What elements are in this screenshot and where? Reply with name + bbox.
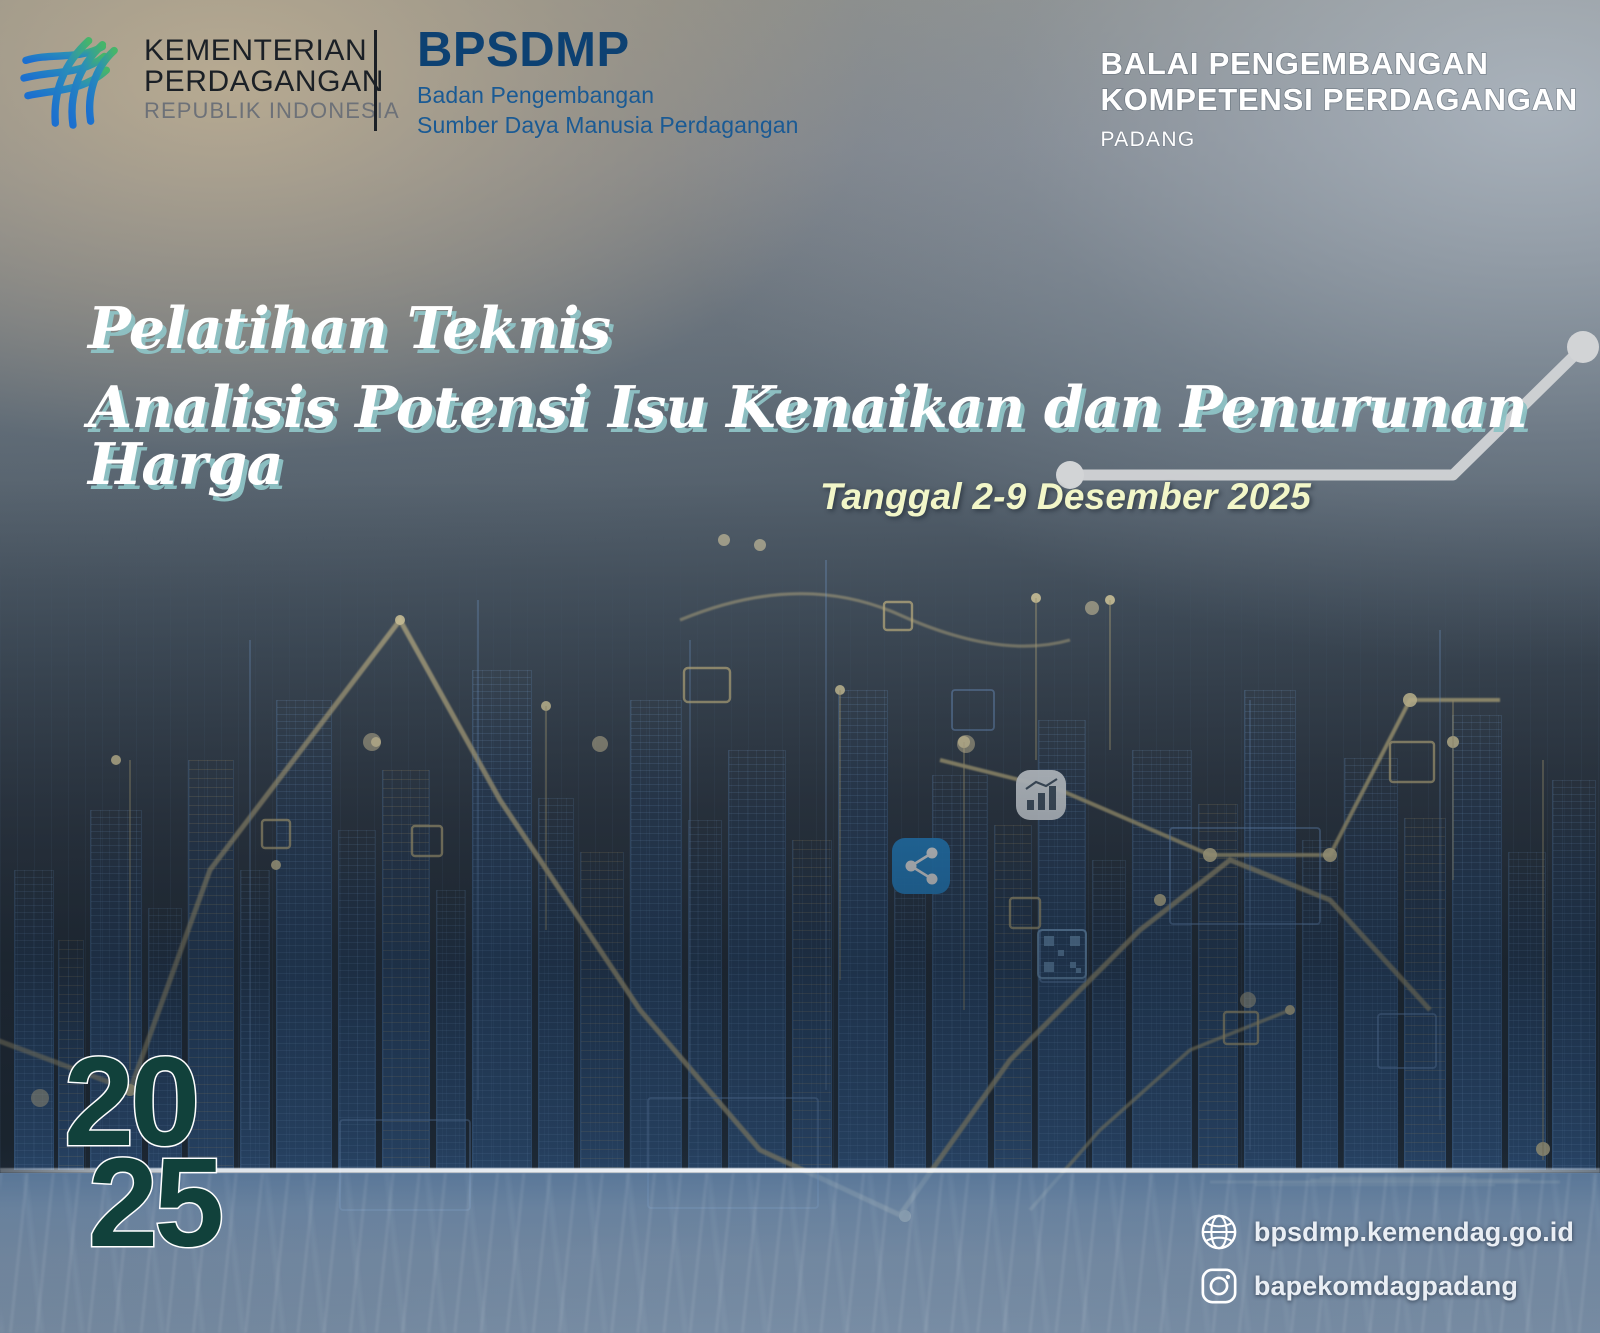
kemendag-woven-logo-icon	[18, 27, 126, 131]
instagram-label: bapekomdagpadang	[1254, 1271, 1518, 1302]
agency-block: BPSDMP Badan Pengembangan Sumber Daya Ma…	[417, 26, 799, 141]
event-date: Tanggal 2-9 Desember 2025	[820, 476, 1311, 518]
ministry-line-2: PERDAGANGAN	[144, 67, 400, 97]
header-divider	[374, 30, 377, 131]
agency-acronym: BPSDMP	[417, 26, 799, 75]
instagram-row[interactable]: bapekomdagpadang	[1200, 1267, 1574, 1305]
ministry-logo-block: KEMENTERIAN PERDAGANGAN REPUBLIK INDONES…	[18, 27, 400, 131]
instagram-icon	[1200, 1267, 1238, 1305]
website-row[interactable]: bpsdmp.kemendag.go.id	[1200, 1213, 1574, 1251]
year-stamp: 20 25	[64, 1052, 220, 1254]
unit-block: BALAI PENGEMBANGAN KOMPETENSI PERDAGANGA…	[1101, 46, 1578, 152]
website-label: bpsdmp.kemendag.go.id	[1254, 1217, 1574, 1248]
ministry-name: KEMENTERIAN PERDAGANGAN REPUBLIK INDONES…	[144, 36, 400, 122]
unit-line-1: BALAI PENGEMBANGAN	[1101, 46, 1578, 82]
year-bottom: 25	[88, 1153, 220, 1254]
main-title-block: Pelatihan Teknis Analisis Potensi Isu Ke…	[88, 300, 1600, 493]
trend-line-graphic	[0, 0, 1600, 1333]
agency-subtitle-line-2: Sumber Daya Manusia Perdagangan	[417, 110, 799, 140]
agency-subtitle-line-1: Badan Pengembangan	[417, 80, 799, 110]
poster-header: KEMENTERIAN PERDAGANGAN REPUBLIK INDONES…	[0, 0, 1600, 170]
ministry-line-3: REPUBLIK INDONESIA	[144, 100, 400, 122]
contact-block: bpsdmp.kemendag.go.id bapekomdagpadang	[1200, 1197, 1574, 1305]
title-line-1: Pelatihan Teknis	[88, 300, 1600, 357]
unit-line-2: KOMPETENSI PERDAGANGAN	[1101, 82, 1578, 118]
globe-icon	[1200, 1213, 1238, 1251]
ministry-line-1: KEMENTERIAN	[144, 36, 400, 66]
poster-canvas: KEMENTERIAN PERDAGANGAN REPUBLIK INDONES…	[0, 0, 1600, 1333]
unit-city: PADANG	[1101, 128, 1578, 152]
